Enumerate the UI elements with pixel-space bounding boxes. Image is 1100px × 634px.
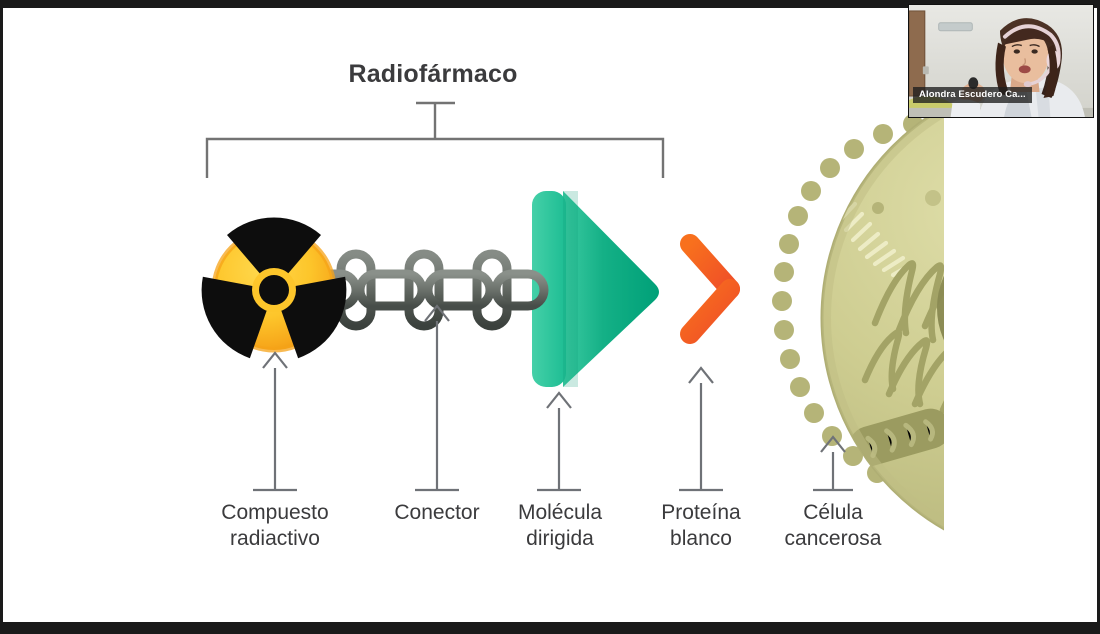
bracket-radiofarmaco [207,103,663,178]
screen-share-frame: Radiofármaco Compuesto radiactivo Conect… [0,0,1100,634]
y-receptor-icon [690,244,788,334]
webcam-video-tile[interactable]: Alondra Escudero Ca... [908,4,1094,118]
label-molecula-dirigida: Molécula dirigida [490,500,630,552]
radioactive-trefoil-icon [188,218,360,367]
chain-link-icon [312,254,544,326]
slide-right-mask [944,126,1097,622]
participant-name-label: Alondra Escudero Ca... [913,87,1032,103]
green-triangle-icon [532,191,659,387]
page-title: Radiofármaco [3,60,863,89]
label-celula-cancerosa: Célula cancerosa [763,500,903,552]
label-proteina-blanco: Proteína blanco [631,500,771,552]
label-compuesto-radiactivo: Compuesto radiactivo [185,500,365,552]
